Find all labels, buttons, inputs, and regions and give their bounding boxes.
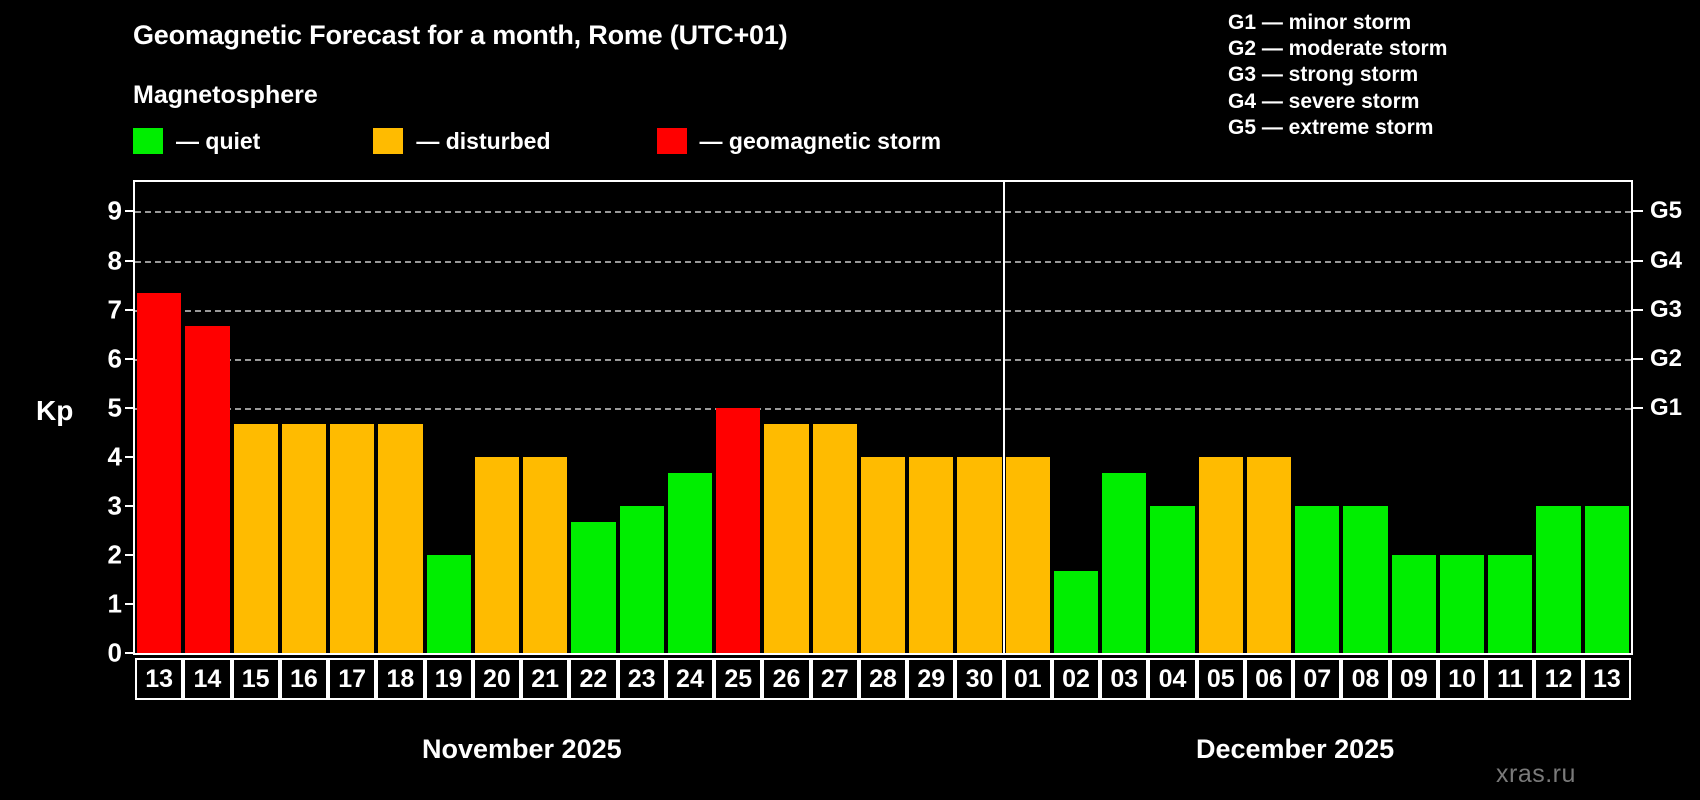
day-label-strip: 1314151617181920212223242526272829300102…: [133, 658, 1633, 700]
legend: — quiet — disturbed — geomagnetic storm: [133, 126, 941, 156]
day-label-november-28: 28: [859, 658, 907, 700]
legend-swatch-storm: [657, 128, 687, 154]
page-title: Geomagnetic Forecast for a month, Rome (…: [133, 20, 787, 51]
day-label-november-16: 16: [280, 658, 328, 700]
day-label-december-08: 08: [1341, 658, 1389, 700]
day-label-november-15: 15: [232, 658, 280, 700]
gscale-legend: G1 — minor storm G2 — moderate storm G3 …: [1228, 10, 1447, 141]
g-tick-mark-g2: [1633, 358, 1643, 360]
day-label-december-04: 04: [1148, 658, 1196, 700]
g-tick-mark-g3: [1633, 309, 1643, 311]
day-label-november-22: 22: [569, 658, 617, 700]
watermark: xras.ru: [1496, 760, 1576, 789]
day-label-december-07: 07: [1293, 658, 1341, 700]
day-label-november-29: 29: [907, 658, 955, 700]
day-label-november-26: 26: [762, 658, 810, 700]
day-label-november-25: 25: [714, 658, 762, 700]
g-axis: G1G2G3G4G5: [0, 180, 1700, 655]
gscale-line-g1: G1 — minor storm: [1228, 10, 1447, 36]
day-label-november-23: 23: [618, 658, 666, 700]
legend-label-quiet: — quiet: [176, 128, 260, 155]
g-tick-mark-g4: [1633, 260, 1643, 262]
g-tick-label-g1: G1: [1650, 394, 1682, 422]
magnetosphere-heading: Magnetosphere: [133, 81, 318, 110]
legend-item-storm: — geomagnetic storm: [657, 128, 942, 155]
day-label-november-21: 21: [521, 658, 569, 700]
day-label-december-02: 02: [1052, 658, 1100, 700]
day-label-december-01: 01: [1004, 658, 1052, 700]
day-label-december-12: 12: [1534, 658, 1582, 700]
legend-item-disturbed: — disturbed: [373, 128, 550, 155]
day-label-december-06: 06: [1245, 658, 1293, 700]
legend-label-storm: — geomagnetic storm: [700, 128, 942, 155]
gscale-line-g4: G4 — severe storm: [1228, 89, 1447, 115]
legend-label-disturbed: — disturbed: [416, 128, 550, 155]
day-label-december-09: 09: [1390, 658, 1438, 700]
day-label-november-13: 13: [135, 658, 183, 700]
day-label-december-11: 11: [1486, 658, 1534, 700]
g-tick-label-g4: G4: [1650, 247, 1682, 275]
gscale-line-g2: G2 — moderate storm: [1228, 36, 1447, 62]
day-label-november-18: 18: [376, 658, 424, 700]
legend-swatch-quiet: [133, 128, 163, 154]
day-label-november-30: 30: [955, 658, 1003, 700]
g-tick-mark-g1: [1633, 407, 1643, 409]
day-label-november-19: 19: [425, 658, 473, 700]
g-tick-label-g3: G3: [1650, 296, 1682, 324]
day-label-december-03: 03: [1100, 658, 1148, 700]
month-label-november: November 2025: [422, 734, 622, 765]
day-label-november-24: 24: [666, 658, 714, 700]
g-tick-mark-g5: [1633, 210, 1643, 212]
month-label-december: December 2025: [1196, 734, 1394, 765]
day-label-november-20: 20: [473, 658, 521, 700]
g-tick-label-g5: G5: [1650, 197, 1682, 225]
day-label-december-10: 10: [1438, 658, 1486, 700]
gscale-line-g5: G5 — extreme storm: [1228, 115, 1447, 141]
day-label-november-17: 17: [328, 658, 376, 700]
g-tick-label-g2: G2: [1650, 345, 1682, 373]
legend-item-quiet: — quiet: [133, 128, 260, 155]
legend-swatch-disturbed: [373, 128, 403, 154]
day-label-november-27: 27: [811, 658, 859, 700]
gscale-line-g3: G3 — strong storm: [1228, 62, 1447, 88]
day-label-december-13: 13: [1583, 658, 1631, 700]
day-label-december-05: 05: [1197, 658, 1245, 700]
day-label-november-14: 14: [183, 658, 231, 700]
